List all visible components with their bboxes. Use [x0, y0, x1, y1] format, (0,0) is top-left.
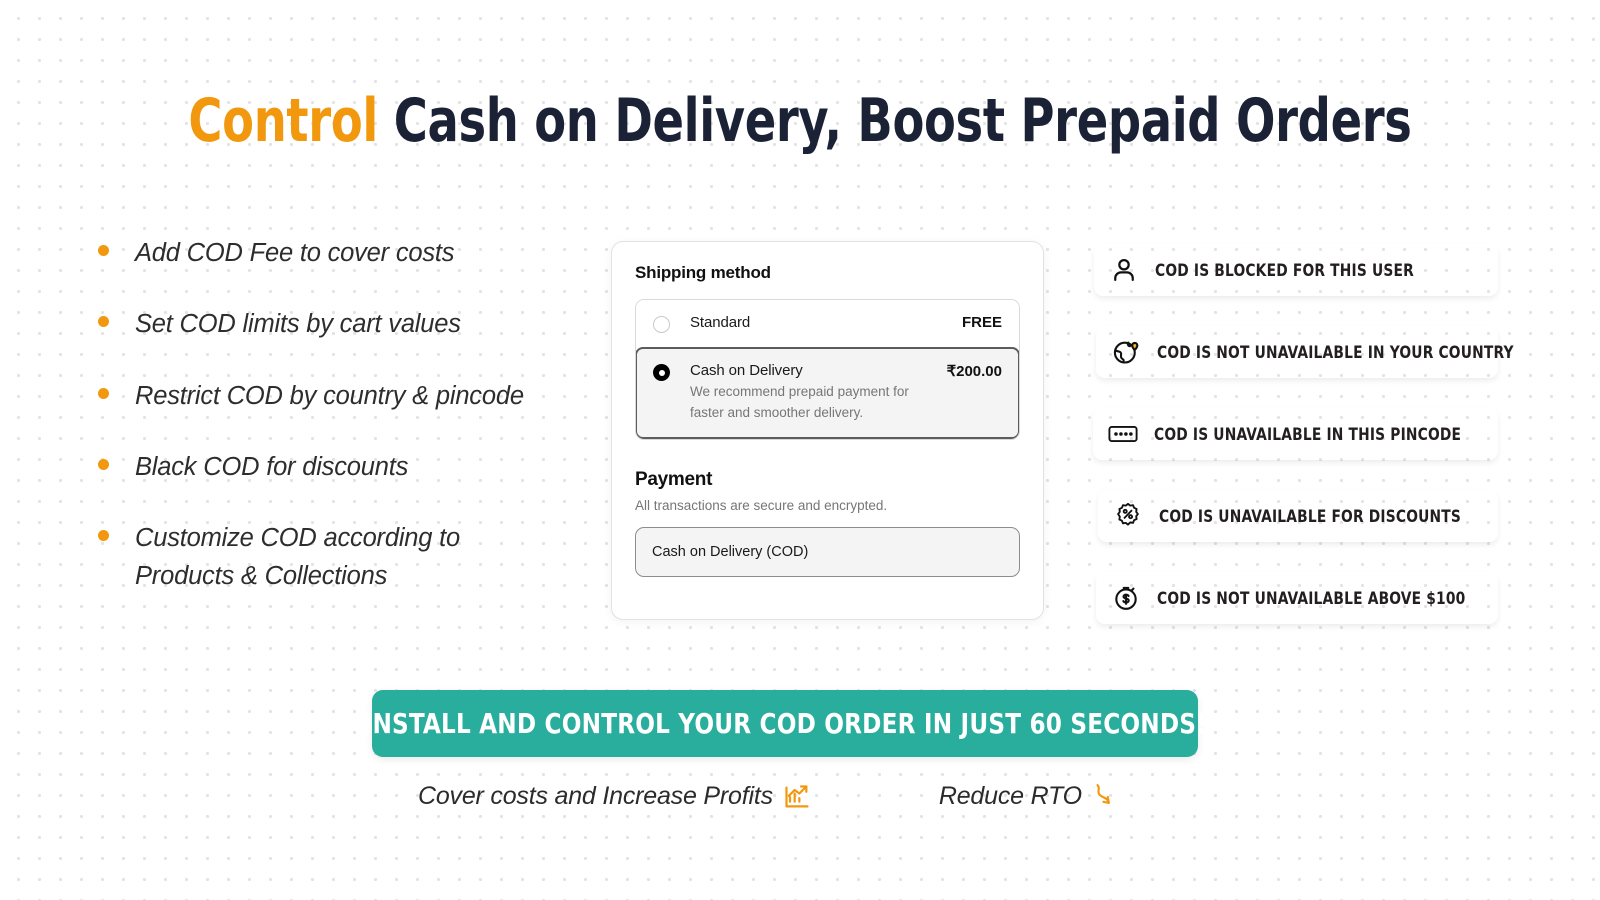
shipping-method-title: Shipping method — [635, 263, 1020, 283]
install-cta-button[interactable]: INSTALL AND CONTROL YOUR COD ORDER IN JU… — [372, 690, 1198, 757]
shipping-option-label: Cash on Delivery — [690, 362, 939, 379]
list-item: Add COD Fee to cover costs — [98, 234, 598, 272]
payment-method-option[interactable]: Cash on Delivery (COD) — [635, 527, 1020, 577]
payment-method-label: Cash on Delivery (COD) — [652, 544, 808, 560]
checkout-card: Shipping method Standard FREE Cash on De… — [611, 241, 1044, 620]
bullet-icon — [98, 388, 109, 399]
shipping-option-price: FREE — [962, 314, 1002, 331]
user-icon — [1107, 253, 1141, 287]
feature-label: Restrict COD by country & pincode — [135, 377, 524, 415]
arrow-down-right-icon — [1092, 783, 1116, 811]
bullet-icon — [98, 245, 109, 256]
bottom-captions: Cover costs and Increase Profits Reduce … — [400, 782, 1180, 811]
feature-label: Add COD Fee to cover costs — [135, 234, 454, 272]
shipping-option-label: Standard — [690, 314, 954, 331]
badge-cod-above-amount: COD IS NOT UNAVAILABLE ABOVE $100 — [1096, 572, 1498, 624]
list-item: Black COD for discounts — [98, 448, 598, 486]
badge-label: COD IS UNAVAILABLE FOR DISCOUNTS — [1159, 507, 1461, 526]
caption-reduce-rto: Reduce RTO — [939, 782, 1116, 811]
feature-list: Add COD Fee to cover costs Set COD limit… — [98, 234, 598, 596]
badge-label: COD IS NOT UNAVAILABLE IN YOUR COUNTRY — [1157, 343, 1514, 362]
feature-label: Customize COD according to Products & Co… — [135, 519, 505, 596]
payment-subtitle: All transactions are secure and encrypte… — [635, 498, 1020, 513]
badge-cod-pincode: COD IS UNAVAILABLE IN THIS PINCODE — [1093, 408, 1498, 460]
page-title-rest: Cash on Delivery, Boost Prepaid Orders — [378, 86, 1412, 156]
page-title-accent: Control — [188, 86, 378, 156]
shipping-option-cod[interactable]: Cash on Delivery We recommend prepaid pa… — [635, 347, 1020, 439]
page-title: Control Cash on Delivery, Boost Prepaid … — [112, 86, 1488, 156]
feature-label: Black COD for discounts — [135, 448, 408, 486]
list-item: Set COD limits by cart values — [98, 305, 598, 343]
bullet-icon — [98, 530, 109, 541]
radio-cash-on-delivery[interactable] — [653, 364, 670, 381]
payment-title: Payment — [635, 469, 1020, 491]
badge-label: COD IS NOT UNAVAILABLE ABOVE $100 — [1157, 589, 1465, 608]
list-item: Customize COD according to Products & Co… — [98, 519, 598, 596]
feature-label: Set COD limits by cart values — [135, 305, 461, 343]
discount-icon — [1111, 499, 1145, 533]
bullet-icon — [98, 459, 109, 470]
radio-standard[interactable] — [653, 316, 670, 333]
chart-up-icon — [783, 783, 811, 811]
caption-cover-costs: Cover costs and Increase Profits — [418, 782, 811, 811]
caption-label: Reduce RTO — [939, 782, 1082, 811]
shipping-option-standard[interactable]: Standard FREE — [636, 300, 1019, 347]
shipping-options-group: Standard FREE Cash on Delivery We recomm… — [635, 299, 1020, 440]
install-cta-label: INSTALL AND CONTROL YOUR COD ORDER IN JU… — [363, 707, 1206, 740]
caption-label: Cover costs and Increase Profits — [418, 782, 773, 811]
badge-cod-blocked-user: COD IS BLOCKED FOR THIS USER — [1094, 244, 1498, 296]
badge-cod-country: COD IS NOT UNAVAILABLE IN YOUR COUNTRY — [1096, 326, 1498, 378]
shipping-option-note: We recommend prepaid payment for faster … — [690, 382, 939, 424]
bullet-icon — [98, 316, 109, 327]
pincode-icon — [1106, 417, 1140, 451]
badge-label: COD IS BLOCKED FOR THIS USER — [1155, 261, 1414, 280]
shipping-option-price: ₹200.00 — [947, 362, 1002, 380]
badge-label: COD IS UNAVAILABLE IN THIS PINCODE — [1154, 425, 1461, 444]
badge-cod-discounts: COD IS UNAVAILABLE FOR DISCOUNTS — [1098, 490, 1498, 542]
dollar-clock-icon — [1109, 581, 1143, 615]
globe-pin-icon — [1109, 335, 1143, 369]
list-item: Restrict COD by country & pincode — [98, 377, 598, 415]
